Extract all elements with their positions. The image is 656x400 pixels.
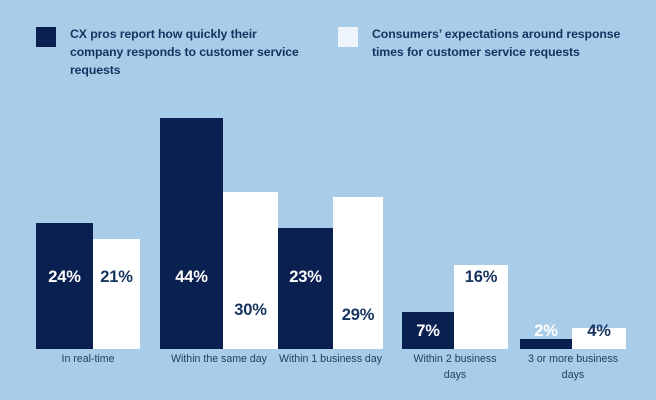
bar-group: 44%30%Within the same day [160,0,278,400]
bar-value-label: 44% [160,268,223,287]
bar-consumers[interactable]: 21% [93,239,140,349]
bar-group-bars: 2%4% [520,109,626,349]
bar-value-label: 29% [333,306,383,325]
bar-group-bars: 7%16% [402,109,508,349]
bar-group: 23%29%Within 1 business day [278,0,383,400]
bar-group-bars: 24%21% [36,109,140,349]
bar-consumers[interactable]: 29% [333,197,383,349]
bar-group-bars: 44%30% [160,109,278,349]
bar-cx-pros[interactable]: 2% [520,339,572,350]
bar-value-label: 30% [223,301,278,320]
bar-group: 24%21%In real-time [36,0,140,400]
bar-group: 7%16%Within 2 business days [402,0,508,400]
bar-value-label: 16% [454,268,508,287]
chart-container: CX pros report how quickly their company… [0,0,656,400]
category-label: Within 2 business days [402,352,508,384]
bar-group-bars: 23%29% [278,109,383,349]
bar-value-label: 23% [278,268,333,287]
bar-value-label: 2% [520,322,572,341]
bar-value-label: 7% [402,322,454,341]
bar-consumers[interactable]: 4% [572,328,626,349]
bar-value-label: 21% [93,268,140,287]
bar-consumers[interactable]: 30% [223,192,278,350]
plot-area: 24%21%In real-time44%30%Within the same … [0,0,656,400]
bar-cx-pros[interactable]: 7% [402,312,454,349]
bar-consumers[interactable]: 16% [454,265,508,349]
bar-cx-pros[interactable]: 23% [278,228,333,349]
bar-value-label: 24% [36,268,93,287]
bar-group: 2%4%3 or more business days [520,0,626,400]
category-label: 3 or more business days [520,352,626,384]
bar-value-label: 4% [572,322,626,341]
bar-cx-pros[interactable]: 24% [36,223,93,349]
category-label: In real-time [36,352,140,368]
bar-cx-pros[interactable]: 44% [160,118,223,349]
category-label: Within 1 business day [278,352,383,368]
category-label: Within the same day [160,352,278,368]
